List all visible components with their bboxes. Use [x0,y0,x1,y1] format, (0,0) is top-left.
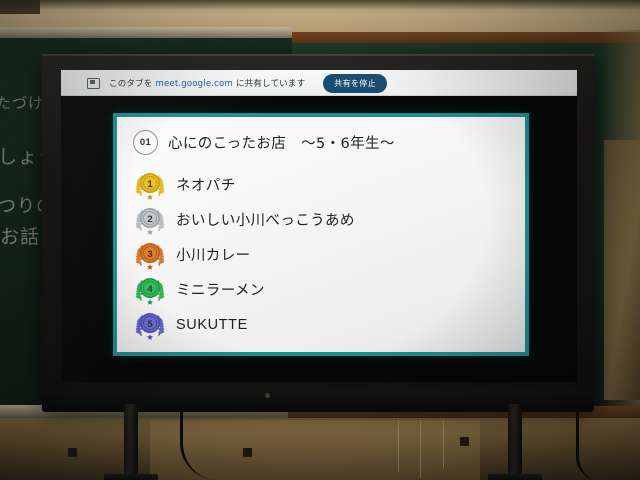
stand-foot-left [104,474,158,480]
ceiling-shadow [0,0,640,10]
slide-content: 01 心にのこったお店 〜5・6年生〜 1 ネオパチ 2 おいしい小川べっこうあ… [117,117,525,352]
medal-rank-2-icon: 2 [133,205,167,235]
wall-hole [68,448,77,457]
rank-item: 3 小川カレー [133,237,509,272]
stand-leg-left [124,404,138,480]
share-message: このタブをmeet.google.comに共有しています [109,77,305,89]
rank-label: ミニラーメン [176,279,265,300]
rank-item: 1 ネオパチ [133,167,509,202]
rank-item: 2 おいしい小川べっこうあめ [133,202,509,237]
share-origin: meet.google.com [156,79,233,89]
slide-header: 01 心にのこったお店 〜5・6年生〜 [133,130,509,155]
power-led [265,393,270,398]
ranking-list: 1 ネオパチ 2 おいしい小川べっこうあめ 3 小川カレー 4 ミニラーメン [133,167,509,342]
rank-item: 4 ミニラーメン [133,272,509,307]
stand-leg-right [508,404,522,480]
hanging-cord [398,420,399,472]
display-screen: このタブをmeet.google.comに共有しています 共有を停止 01 心に… [61,70,577,382]
chalk-note-4: お話 [0,222,40,249]
bezel-highlight [42,54,594,56]
signal-cable [576,408,599,480]
rank-label: ネオパチ [176,174,236,195]
medal-rank-3-icon: 3 [133,240,167,270]
slide-number-badge: 01 [133,130,158,155]
share-message-suffix: に共有しています [236,79,305,89]
rank-item: 5 SUKUTTE [133,307,509,342]
tab-sharing-bar: このタブをmeet.google.comに共有しています 共有を停止 [61,70,577,96]
medal-rank-4-icon: 4 [133,275,167,305]
svg-text:3: 3 [147,249,152,260]
svg-text:5: 5 [147,319,153,330]
chalk-note-1: たづけ [0,92,44,113]
rank-label: 小川カレー [176,244,251,265]
wall-hole [460,437,469,446]
classroom-photo-scene: たづけ しょう つりの お話 このタブをmeet.google.comに共有して… [0,0,640,480]
right-wall-panel [604,140,640,400]
hanging-cord [443,420,444,468]
wall-hole [243,448,252,457]
rank-label: おいしい小川べっこうあめ [176,209,355,230]
medal-rank-1-icon: 1 [133,170,167,200]
hanging-cord [420,420,421,478]
svg-text:1: 1 [147,179,153,190]
presentation-stage: 01 心にのこったお店 〜5・6年生〜 1 ネオパチ 2 おいしい小川べっこうあ… [61,96,577,382]
slide: 01 心にのこったお店 〜5・6年生〜 1 ネオパチ 2 おいしい小川べっこうあ… [113,113,529,356]
svg-text:4: 4 [147,284,153,295]
screen-share-icon [87,78,100,89]
stand-foot-right [488,474,542,480]
share-message-prefix: このタブを [109,79,153,89]
svg-text:2: 2 [147,214,152,225]
wall-corner-shadow [0,0,40,14]
slide-title: 心にのこったお店 〜5・6年生〜 [168,132,395,153]
rank-label: SUKUTTE [176,317,248,333]
stop-sharing-button[interactable]: 共有を停止 [323,74,387,93]
wall-display: このタブをmeet.google.comに共有しています 共有を停止 01 心に… [42,54,594,404]
medal-rank-5-icon: 5 [133,310,167,340]
